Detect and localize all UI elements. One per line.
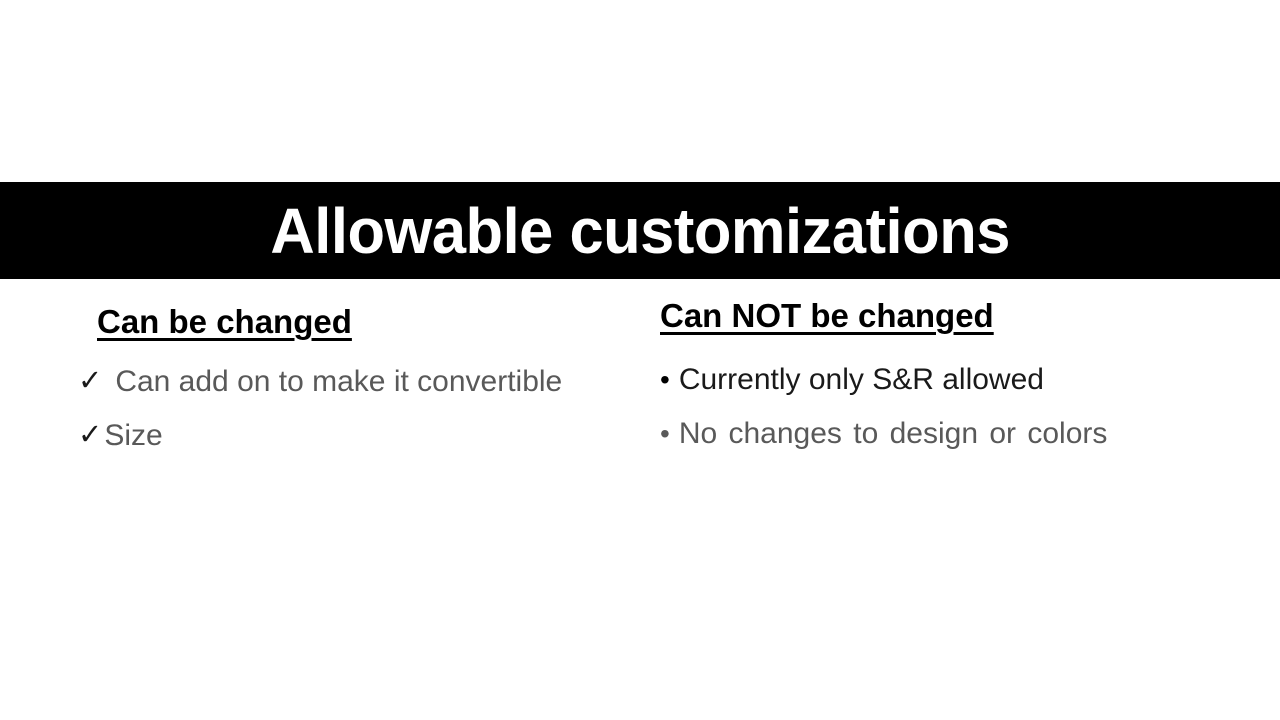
list-item-label: Can add on to make it convertible [115, 361, 608, 402]
dot-bullet-icon: • [660, 413, 670, 454]
column-can-not-be-changed: Can NOT be changed • Currently only S&R … [660, 279, 1220, 454]
list-item: • Currently only S&R allowed [660, 359, 1220, 400]
column-heading-can-be-changed: Can be changed [97, 304, 352, 340]
slide-canvas: Allowable customizations Can be changed … [0, 0, 1280, 720]
dot-bullet-icon: • [660, 359, 670, 400]
list-item-label: Currently only S&R allowed [679, 359, 1220, 400]
slide-body: Can be changed ✓ Can add on to make it c… [0, 279, 1280, 720]
list-item: ✓ Size [78, 415, 608, 456]
list-item: • No changes to design or colors [660, 413, 1220, 454]
title-banner: Allowable customizations [0, 182, 1280, 279]
bullet-list-can-be-changed: ✓ Can add on to make it convertible ✓ Si… [78, 361, 608, 456]
list-item-label: No changes to design or colors [679, 413, 1220, 454]
page-title: Allowable customizations [270, 199, 1010, 263]
bullet-list-can-not-be-changed: • Currently only S&R allowed • No change… [660, 359, 1220, 454]
list-item-label: Size [104, 415, 608, 456]
check-icon: ✓ [78, 415, 102, 456]
list-item: ✓ Can add on to make it convertible [78, 361, 608, 402]
check-icon: ✓ [78, 361, 102, 402]
column-heading-can-not-be-changed: Can NOT be changed [660, 298, 994, 334]
column-can-be-changed: Can be changed ✓ Can add on to make it c… [78, 279, 608, 456]
